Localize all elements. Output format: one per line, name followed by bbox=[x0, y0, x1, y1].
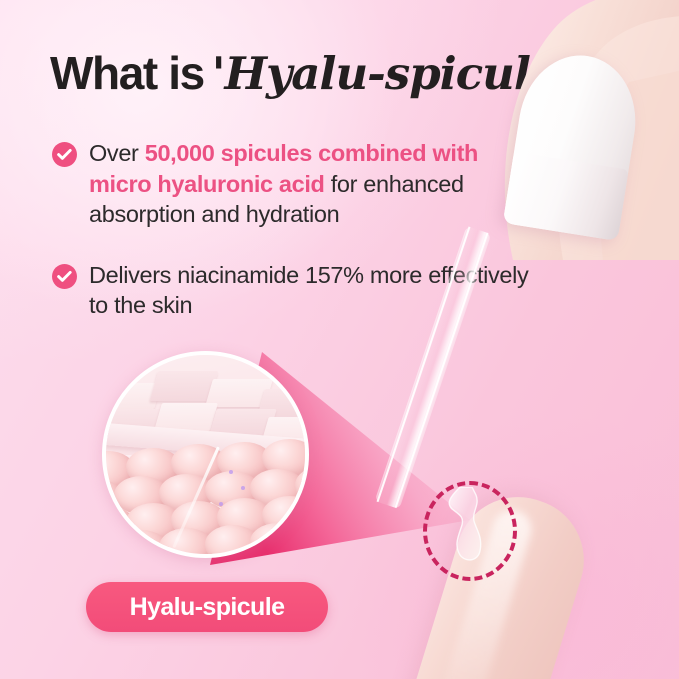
bullet-1-seg-1: Over bbox=[89, 140, 145, 166]
title-plain-text: What is bbox=[50, 47, 204, 99]
magnifier-circle bbox=[102, 351, 309, 558]
product-infographic-poster: What is'Hyalu-spicule'? Over 50,000 spic… bbox=[0, 0, 679, 679]
spicule-sphere-group bbox=[106, 447, 305, 554]
skin-tile bbox=[154, 403, 218, 431]
dashed-highlight-circle bbox=[423, 481, 517, 581]
check-circle-icon bbox=[52, 142, 77, 167]
check-circle-icon bbox=[52, 264, 77, 289]
status-badge: Hyalu-spicule bbox=[86, 582, 328, 632]
magnifier-content bbox=[106, 355, 305, 554]
spicule-sphere bbox=[250, 523, 305, 554]
list-item: Over 50,000 spicules combined with micro… bbox=[52, 138, 532, 230]
list-item-text: Over 50,000 spicules combined with micro… bbox=[89, 138, 532, 230]
badge-label: Hyalu-spicule bbox=[130, 593, 285, 622]
